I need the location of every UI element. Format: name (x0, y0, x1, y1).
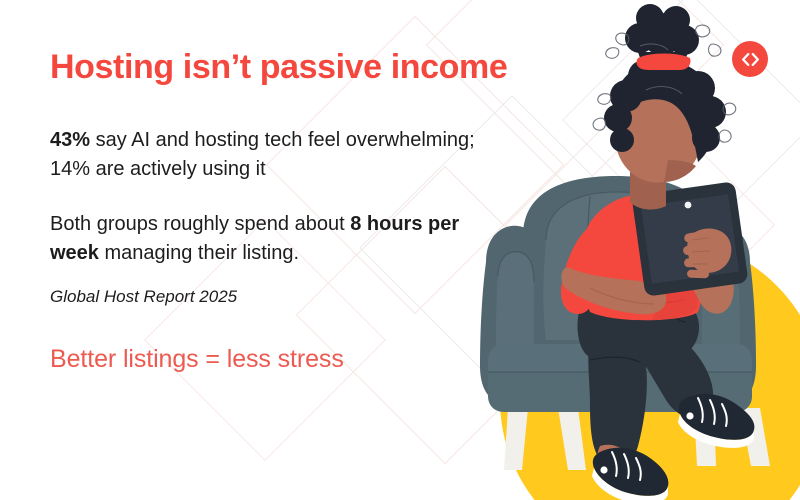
code-brackets-icon (741, 53, 760, 66)
stat-bold-figure: 43% (50, 129, 90, 151)
logo-code-brackets-badge[interactable] (732, 41, 768, 77)
page-title: Hosting isn’t passive income (50, 48, 530, 86)
text-content-column: Hosting isn’t passive income 43% say AI … (50, 48, 530, 375)
stat-paragraph-rest: say AI and hosting tech feel overwhelmin… (50, 129, 475, 180)
hours-paragraph-rest: managing their listing. (99, 242, 299, 264)
hair-tie (636, 54, 690, 71)
hours-paragraph: Both groups roughly spend about 8 hours … (50, 210, 500, 268)
stat-paragraph: 43% say AI and hosting tech feel overwhe… (50, 126, 520, 184)
slide-canvas: Hosting isn’t passive income 43% say AI … (0, 0, 800, 500)
hours-paragraph-lead: Both groups roughly spend about (50, 213, 350, 235)
source-citation: Global Host Report 2025 (50, 286, 530, 308)
tagline: Better listings = less stress (50, 344, 530, 375)
